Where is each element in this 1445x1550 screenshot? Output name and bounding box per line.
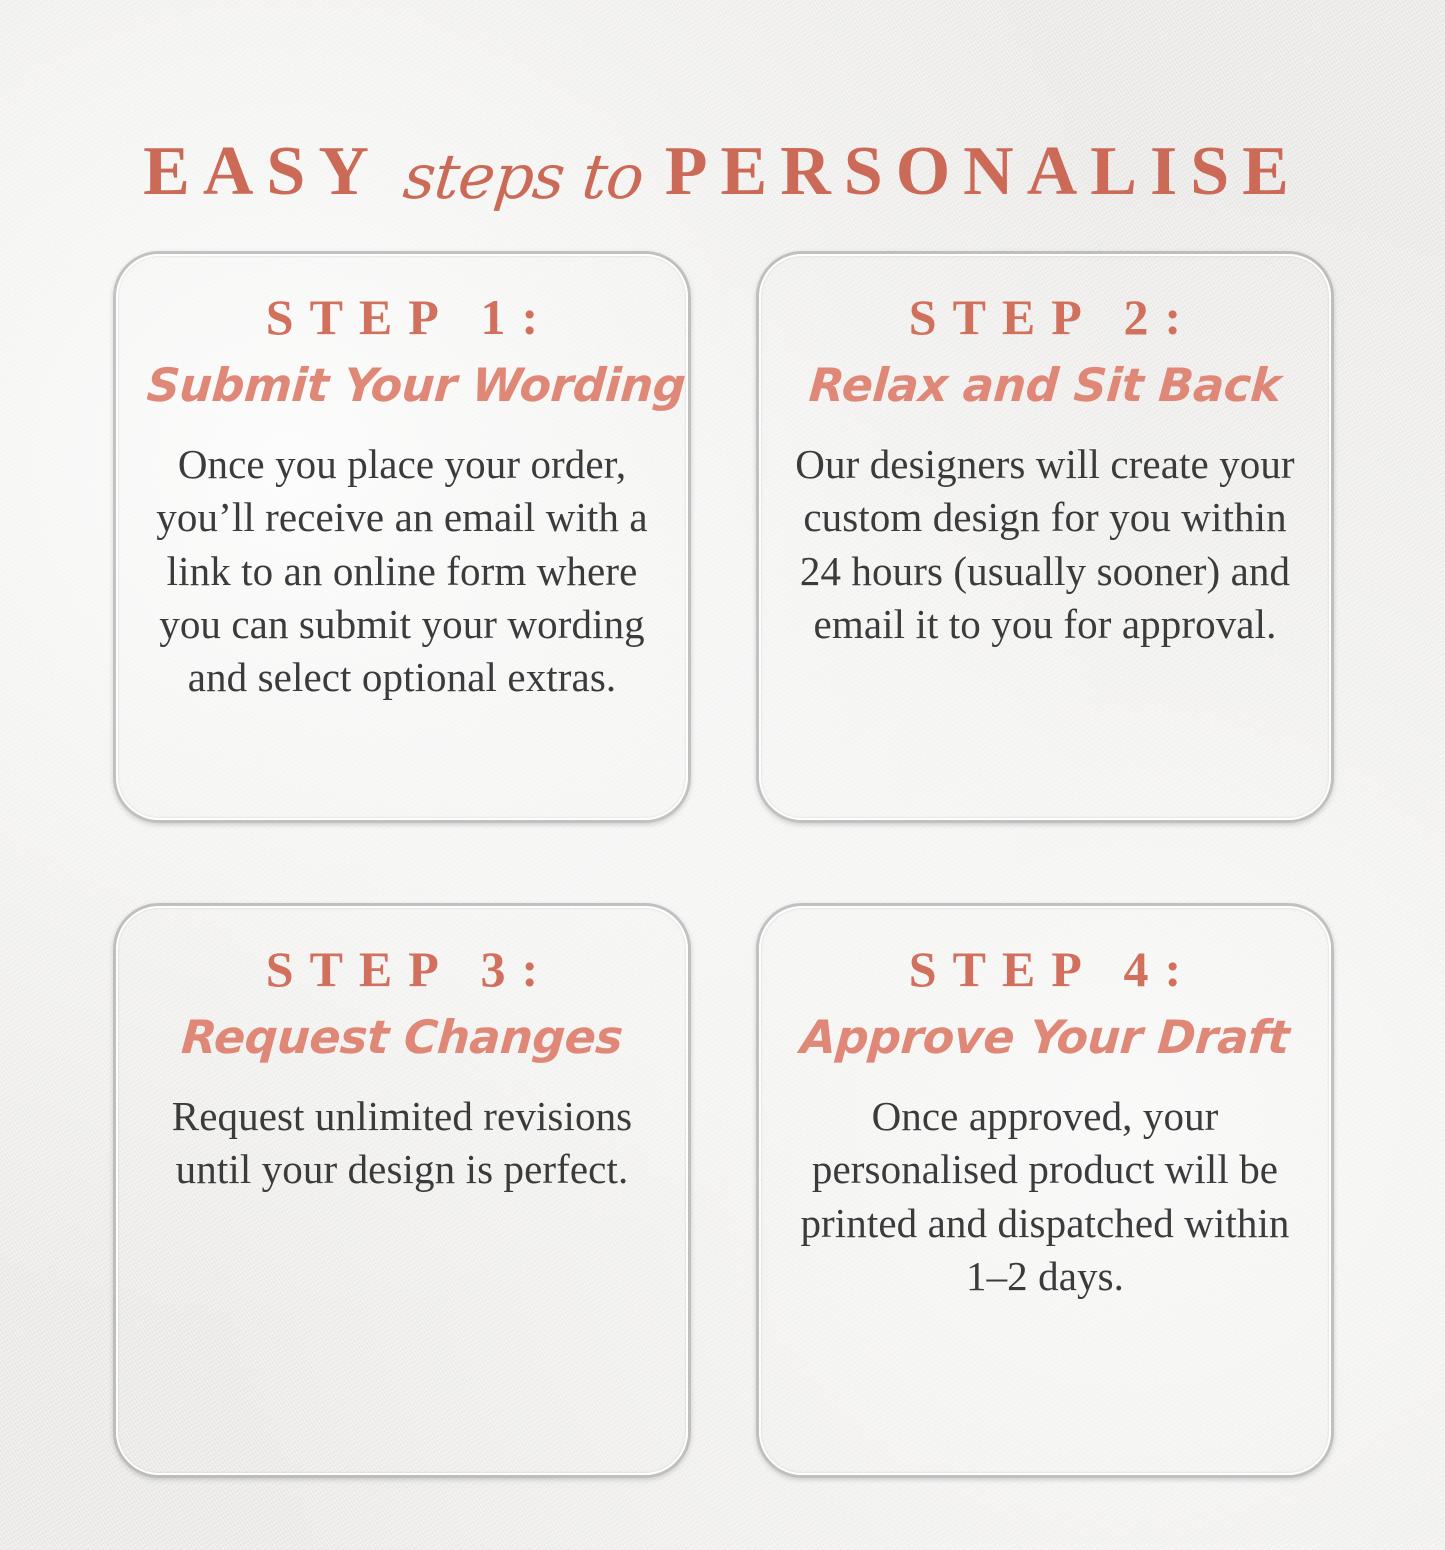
step-card-2-body: Our designers will create your custom de…: [790, 438, 1300, 651]
step-card-4-body: Once approved, your personalised product…: [790, 1090, 1300, 1303]
page-title-part-two: PERSONALISE: [665, 133, 1302, 210]
page-title-script-phrase: steps to: [387, 146, 660, 208]
steps-card-grid: STEP 1: Submit Your Wording Once you pla…: [113, 251, 1334, 1478]
step-card-2-content: STEP 2: Relax and Sit Back Our designers…: [756, 251, 1334, 651]
step-card-4-label: STEP 4:: [790, 943, 1300, 996]
step-card-2: STEP 2: Relax and Sit Back Our designers…: [756, 251, 1334, 823]
page-title-part-one: EASY: [143, 133, 382, 210]
step-card-2-label: STEP 2:: [790, 291, 1300, 344]
step-card-1-title: Submit Your Wording: [145, 360, 659, 411]
step-card-1: STEP 1: Submit Your Wording Once you pla…: [113, 251, 691, 823]
step-card-1-body: Once you place your order, you’ll receiv…: [147, 438, 657, 704]
step-card-4: STEP 4: Approve Your Draft Once approved…: [756, 903, 1334, 1478]
step-card-3-content: STEP 3: Request Changes Request unlimite…: [113, 903, 691, 1197]
step-card-3-body: Request unlimited revisions until your d…: [147, 1090, 657, 1197]
step-card-3-label: STEP 3:: [147, 943, 657, 996]
step-card-3: STEP 3: Request Changes Request unlimite…: [113, 903, 691, 1478]
step-card-1-content: STEP 1: Submit Your Wording Once you pla…: [113, 251, 691, 705]
step-card-3-title: Request Changes: [145, 1012, 659, 1063]
page-title: EASY steps to PERSONALISE: [0, 137, 1445, 207]
step-card-4-content: STEP 4: Approve Your Draft Once approved…: [756, 903, 1334, 1303]
step-card-4-title: Approve Your Draft: [788, 1012, 1302, 1063]
poster-stage: EASY steps to PERSONALISE STEP 1: Submit…: [0, 0, 1445, 1550]
step-card-2-title: Relax and Sit Back: [788, 360, 1302, 411]
step-card-1-label: STEP 1:: [147, 291, 657, 344]
